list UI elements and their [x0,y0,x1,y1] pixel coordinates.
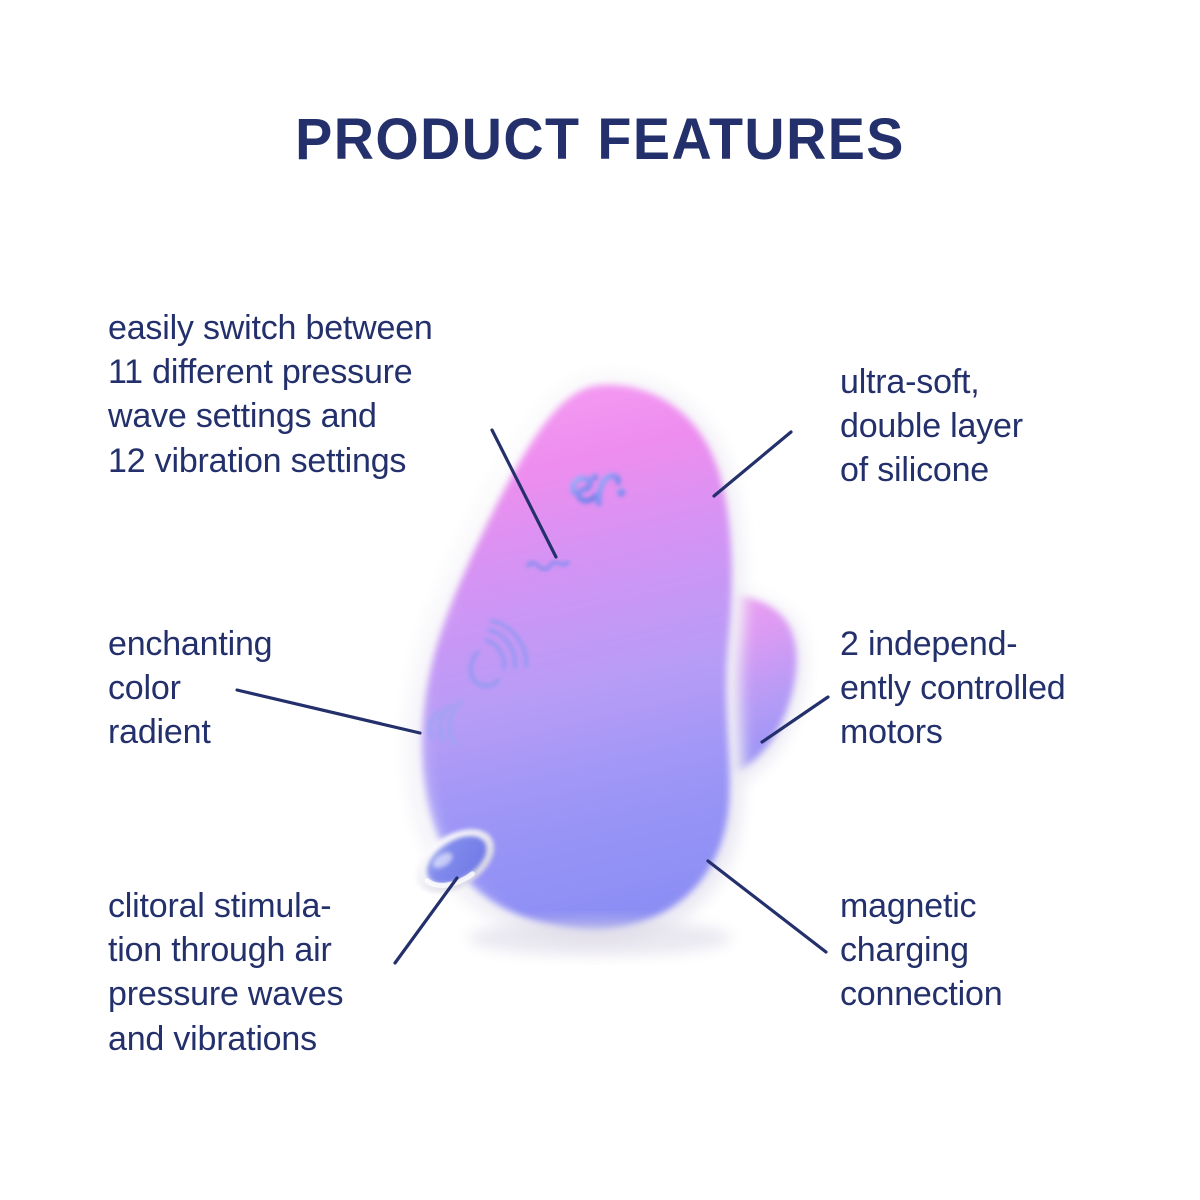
callout-clitoral-stimulation: clitoral stimula- tion through air press… [108,884,428,1061]
callout-ultra-soft-silicone: ultra-soft, double layer of silicone [840,360,1140,493]
callout-easily-switch-settings: easily switch between 11 different press… [108,306,508,483]
callout-enchanting-color-gradient: enchanting color radient [108,622,408,755]
infographic-canvas: PRODUCT FEATURES [0,0,1200,1200]
callout-magnetic-charging: magnetic charging connection [840,884,1140,1017]
callout-independent-motors: 2 independ- ently controlled motors [840,622,1160,755]
